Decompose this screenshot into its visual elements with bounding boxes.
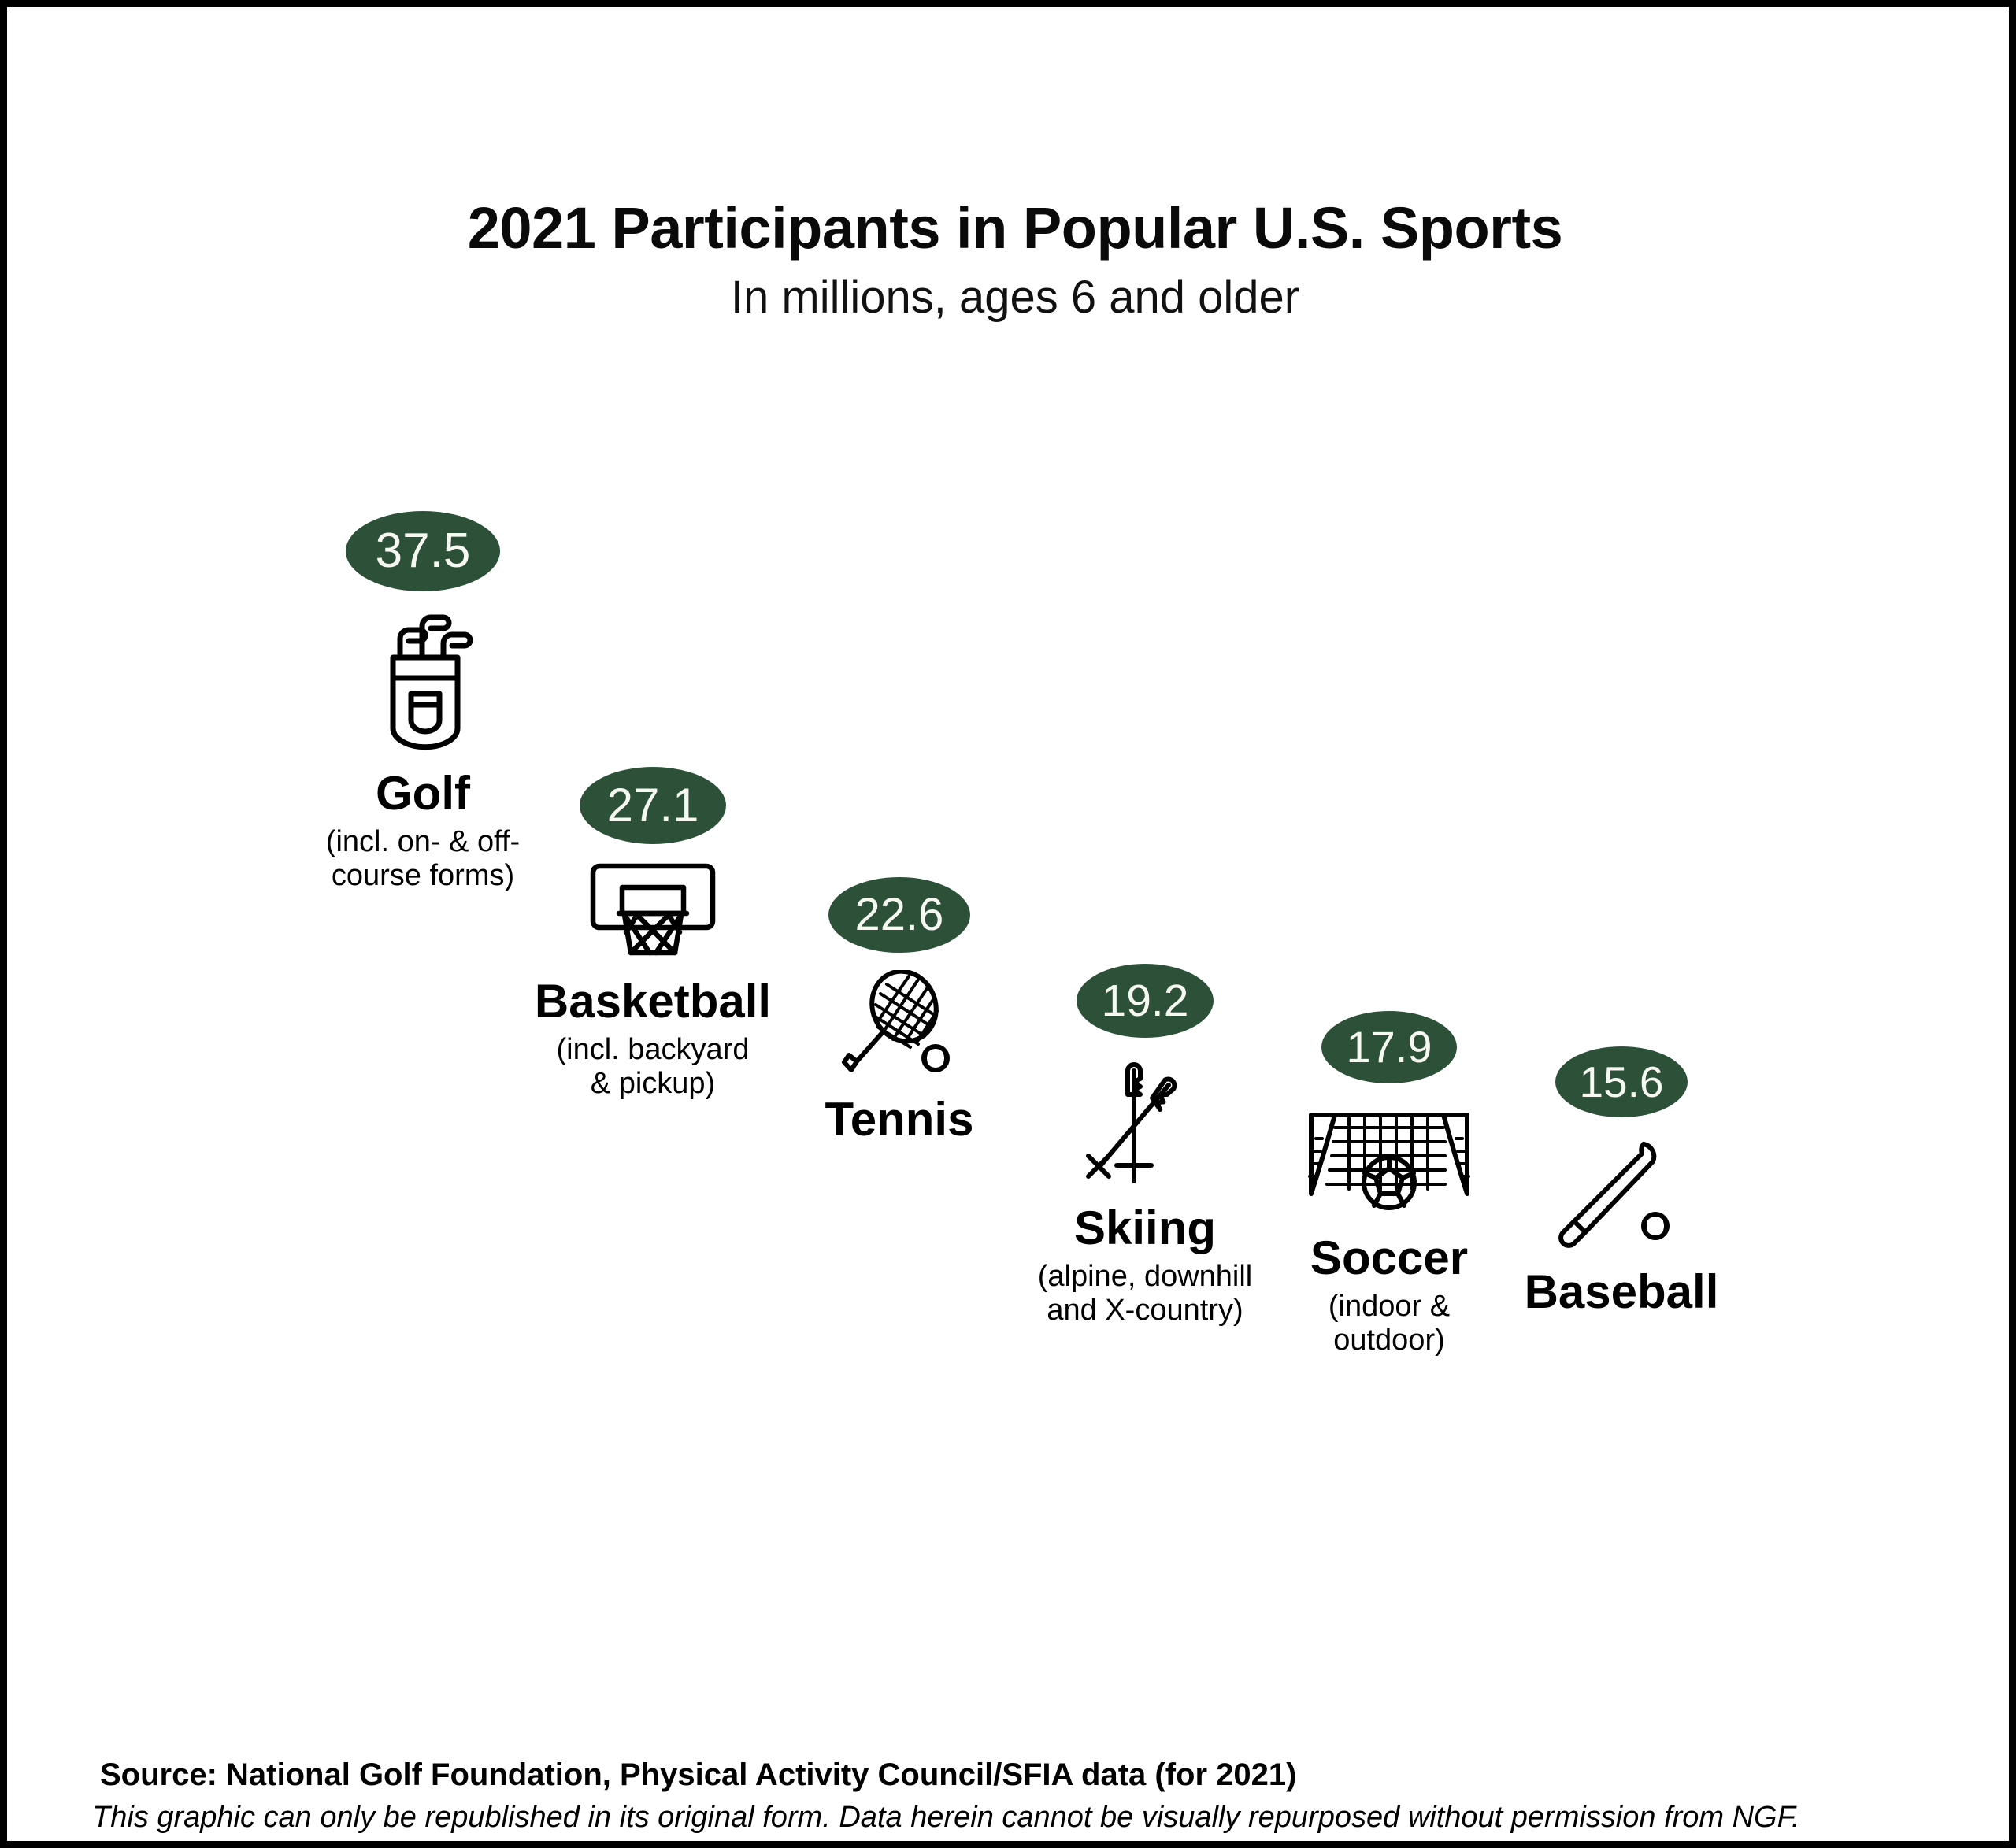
- value-label: 27.1: [607, 782, 699, 829]
- value-label: 22.6: [855, 892, 944, 938]
- value-label: 17.9: [1347, 1025, 1432, 1069]
- infographic-frame: 2021 Participants in Popular U.S. Sports…: [0, 0, 2016, 1848]
- value-bubble-basketball: 27.1: [580, 767, 726, 844]
- republish-disclaimer: This graphic can only be republished in …: [92, 1801, 1800, 1835]
- value-bubble-tennis: 22.6: [828, 877, 970, 953]
- sport-item-baseball: 15.6 Baseball: [1456, 1046, 1787, 1316]
- baseball-bat-icon: [1456, 1135, 1787, 1257]
- golf-bag-icon: [258, 609, 588, 758]
- sport-subtitle-line2: outdoor): [1224, 1324, 1555, 1357]
- value-bubble-soccer: 17.9: [1321, 1011, 1457, 1083]
- value-bubble-golf: 37.5: [346, 511, 500, 591]
- page-subtitle: In millions, ages 6 and older: [7, 271, 2016, 324]
- source-line-1: Source: National Golf Foundation, Physic…: [100, 1757, 1296, 1792]
- value-bubble-skiing: 19.2: [1077, 964, 1214, 1038]
- value-bubble-baseball: 15.6: [1555, 1046, 1688, 1117]
- value-label: 19.2: [1102, 979, 1189, 1024]
- sport-name: Baseball: [1456, 1268, 1787, 1316]
- page-title: 2021 Participants in Popular U.S. Sports: [7, 194, 2016, 261]
- value-label: 15.6: [1579, 1061, 1663, 1104]
- value-label: 37.5: [376, 527, 471, 576]
